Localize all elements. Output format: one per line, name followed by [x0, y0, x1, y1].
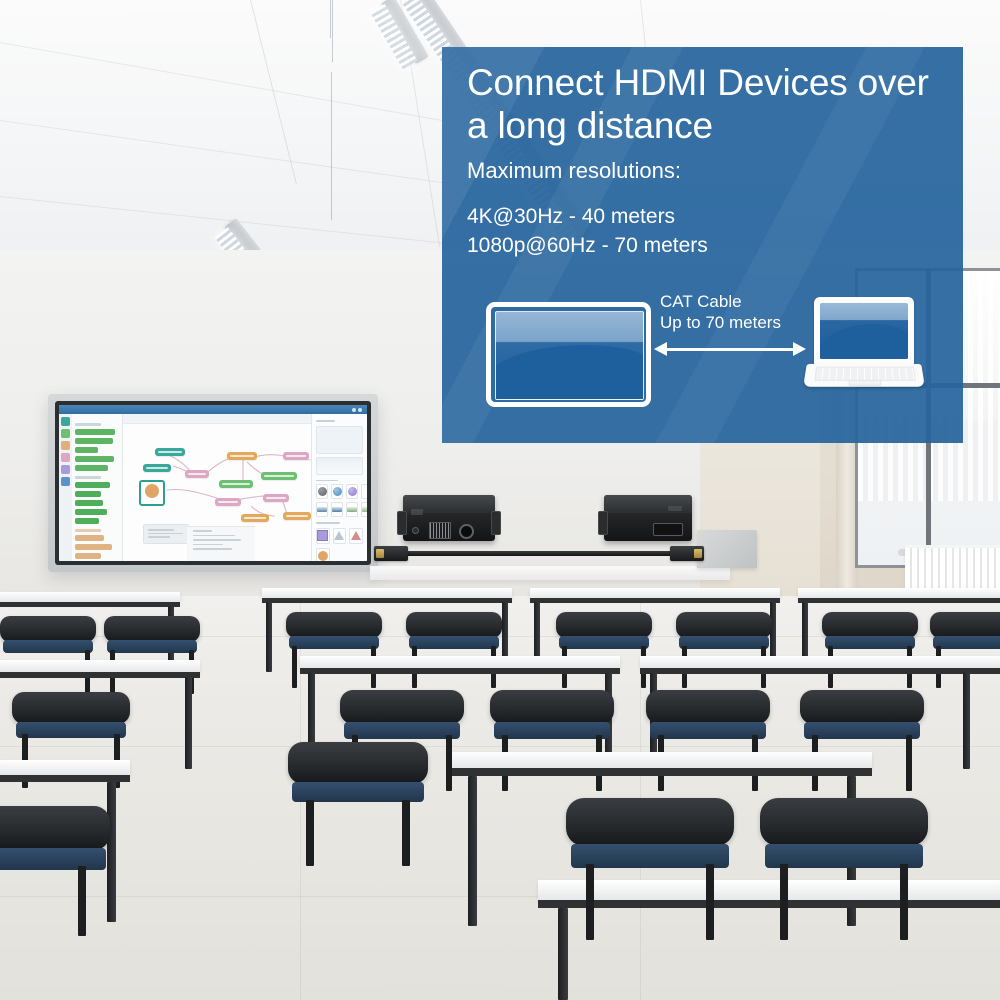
desk [452, 752, 872, 776]
shape-circle[interactable] [316, 548, 330, 562]
mindmap-node[interactable] [283, 512, 311, 520]
tool-icon-teal[interactable] [61, 417, 70, 426]
hdmi-cable [404, 551, 674, 556]
palette-block[interactable] [75, 518, 99, 524]
screen-wave-front [495, 345, 644, 399]
mindmap-node[interactable] [219, 480, 253, 488]
desk [0, 760, 130, 782]
shape-swatch-grid-2[interactable] [316, 548, 363, 562]
laptop-icon [805, 297, 923, 397]
canvas-note[interactable] [143, 524, 189, 544]
mindmap-canvas[interactable] [123, 414, 311, 561]
palette-block[interactable] [75, 553, 101, 559]
laptop-screen [820, 303, 908, 359]
laptop-touchpad [849, 380, 882, 386]
palette-block[interactable] [75, 438, 113, 444]
palette-block[interactable] [75, 544, 112, 550]
mindmap-node[interactable] [185, 470, 209, 478]
panel-title: Connect HDMI Devices over a long distanc… [467, 61, 947, 147]
mindmap-node[interactable] [227, 452, 257, 460]
shape-square[interactable] [316, 528, 330, 544]
tool-icon-green[interactable] [61, 429, 70, 438]
laptop-keyboard [814, 367, 916, 381]
mounting-ear [491, 511, 501, 535]
rj45-port [429, 522, 451, 539]
panel-resolutions: 4K@30Hz - 40 meters 1080p@60Hz - 70 mete… [467, 202, 708, 260]
shape-triangle[interactable] [333, 528, 347, 544]
hdmi-extender-receiver [604, 495, 692, 541]
color-swatch[interactable] [361, 484, 367, 499]
tool-icon-blue[interactable] [61, 477, 70, 486]
palette-block[interactable] [75, 535, 104, 541]
palette-section-header [75, 529, 101, 532]
chair [566, 798, 734, 916]
block-palette[interactable] [72, 414, 123, 561]
extender-logo [668, 506, 682, 511]
palette-block[interactable] [75, 491, 101, 497]
palette-block[interactable] [75, 509, 107, 515]
hdmi-connector-left [374, 546, 408, 561]
gray-laptop [697, 530, 757, 568]
av-table [370, 566, 730, 580]
mindmap-node[interactable] [143, 464, 171, 472]
palette-block[interactable] [75, 482, 110, 488]
desk [300, 656, 620, 673]
mindmap-node[interactable] [155, 448, 185, 456]
mindmap-node[interactable] [241, 514, 269, 522]
app-titlebar [59, 405, 367, 414]
mindmap-node[interactable] [283, 452, 309, 460]
panel-subtitle: Maximum resolutions: [467, 157, 681, 185]
color-swatch[interactable] [346, 484, 358, 499]
double-arrow-icon [654, 341, 806, 357]
mounting-ear [397, 511, 407, 535]
hdmi-connector-right [670, 546, 704, 561]
desk [530, 588, 780, 603]
palette-block[interactable] [75, 500, 103, 506]
tool-icon-orange[interactable] [61, 441, 70, 450]
mindmap-selected-node[interactable] [139, 480, 165, 506]
cable-label-line-2: Up to 70 meters [660, 312, 810, 333]
light-wire [332, 0, 333, 62]
info-panel: Connect HDMI Devices over a long distanc… [442, 47, 963, 443]
mindmap-node[interactable] [215, 498, 241, 506]
chair [0, 806, 110, 916]
mindmap-node[interactable] [263, 494, 289, 502]
shape-triangle-red[interactable] [349, 528, 363, 544]
cable-label-line-1: CAT Cable [660, 291, 810, 312]
canvas-log-panel[interactable] [187, 526, 255, 561]
palette-block[interactable] [75, 456, 114, 462]
mounting-ear [598, 511, 608, 535]
palette-section-header [75, 476, 101, 479]
light-wire [331, 72, 332, 220]
monitor-icon [486, 302, 651, 407]
extender-logo [411, 509, 423, 515]
gradient-swatch[interactable] [316, 502, 328, 517]
window-controls[interactable] [352, 408, 362, 412]
hdmi-port [653, 523, 683, 536]
desk [0, 592, 180, 607]
laptop-wave-front [820, 324, 908, 359]
connection-diagram: CAT Cable Up to 70 meters [442, 287, 963, 417]
palette-section-header [75, 423, 101, 426]
laptop-base [803, 364, 925, 387]
swatch-group-label [316, 480, 338, 482]
arrow-line [664, 348, 796, 351]
chair [760, 798, 928, 916]
shape-swatch-grid[interactable] [316, 528, 363, 544]
color-swatch[interactable] [331, 484, 343, 499]
monitor-screen [495, 311, 644, 400]
app-icon-rail[interactable] [59, 414, 72, 561]
gradient-swatch[interactable] [331, 502, 343, 517]
chair [288, 742, 428, 846]
dc-power-jack [459, 524, 474, 539]
resolution-line-2: 1080p@60Hz - 70 meters [467, 231, 708, 260]
desk [640, 656, 1000, 673]
palette-block[interactable] [75, 465, 108, 471]
preview-box-2 [316, 457, 363, 475]
desk [262, 588, 512, 603]
panel-title-line [316, 420, 335, 422]
node-avatar [145, 484, 159, 498]
properties-panel[interactable] [311, 414, 367, 561]
laptop-lid [814, 297, 914, 365]
mindmap-node[interactable] [261, 472, 297, 480]
whiteboard-bezel [55, 401, 371, 565]
screenshot-canvas: Connect HDMI Devices over a long distanc… [0, 0, 1000, 1000]
shape-group-label [316, 522, 340, 524]
radiator [905, 545, 1000, 590]
color-swatch-grid[interactable] [316, 484, 363, 517]
color-swatch[interactable] [316, 484, 328, 499]
desk [798, 588, 1000, 603]
interactive-whiteboard[interactable] [48, 394, 378, 572]
palette-block[interactable] [75, 429, 115, 435]
desk [0, 660, 200, 677]
tool-icon-purple[interactable] [61, 465, 70, 474]
tool-icon-pink[interactable] [61, 453, 70, 462]
gradient-swatch[interactable] [361, 502, 367, 517]
preview-box [316, 426, 363, 454]
light-wire [330, 0, 331, 38]
resolution-line-1: 4K@30Hz - 40 meters [467, 202, 708, 231]
whiteboard-screen[interactable] [59, 405, 367, 561]
palette-block[interactable] [75, 447, 98, 453]
gradient-swatch[interactable] [346, 502, 358, 517]
status-led [412, 527, 419, 534]
cable-label: CAT Cable Up to 70 meters [660, 291, 810, 333]
hdmi-extender-transmitter [403, 495, 495, 541]
